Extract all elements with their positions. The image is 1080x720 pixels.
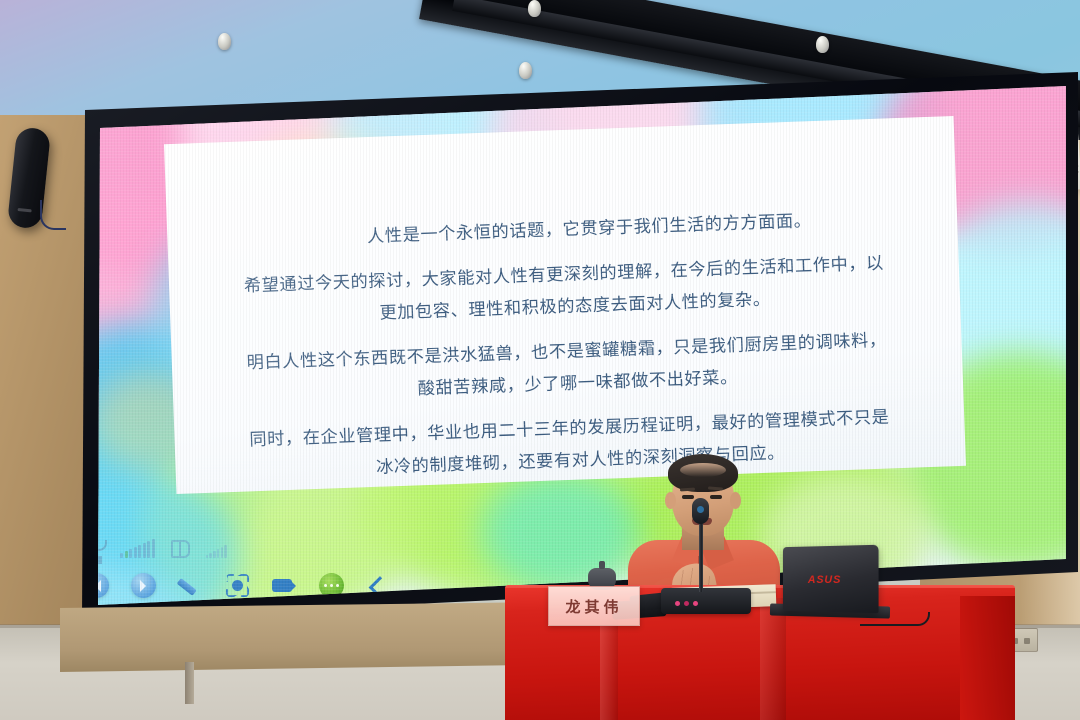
laptop-cable xyxy=(860,612,930,626)
microphone-capsule xyxy=(692,498,709,524)
ceiling-spotlight xyxy=(528,0,541,17)
laptop-lid[interactable]: ASUS xyxy=(783,545,879,614)
eye-right xyxy=(710,495,722,499)
ear-left xyxy=(665,492,676,509)
nameplate-text: 龙其伟 xyxy=(565,596,622,617)
laptop-brand-logo: ASUS xyxy=(808,574,841,586)
display-surface[interactable]: 人性是一个永恒的话题，它贯穿于我们生活的方方面面。 希望通过今天的探讨，大家能对… xyxy=(60,72,1080,620)
nameplate: 龙其伟 xyxy=(548,586,640,626)
microphone-indicator-lights xyxy=(675,601,698,606)
led-wall-display[interactable]: 人性是一个永恒的话题，它贯穿于我们生活的方方面面。 希望通过今天的探讨，大家能对… xyxy=(60,72,1080,620)
display-stand-leg xyxy=(185,662,194,704)
microphone-gooseneck xyxy=(699,516,703,592)
cloth-fold xyxy=(760,598,786,720)
ear-right xyxy=(730,492,741,509)
screen-glare xyxy=(60,72,1080,620)
presenter-hair xyxy=(668,454,738,492)
ceiling-spotlight xyxy=(816,36,829,53)
ceiling-spotlight xyxy=(218,33,231,50)
conference-room-scene: 人性是一个永恒的话题，它贯穿于我们生活的方方面面。 希望通过今天的探讨，大家能对… xyxy=(0,0,1080,720)
cloth-corner xyxy=(960,596,1015,720)
eye-left xyxy=(682,495,694,499)
